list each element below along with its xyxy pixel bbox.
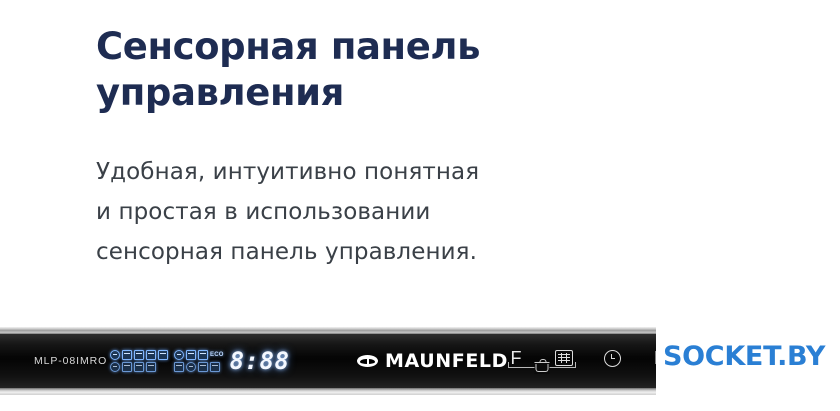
intensive-icon: [186, 362, 196, 372]
appliance-control-panel: MLP-08IMRO: [0, 327, 656, 395]
panel-bottom-edge: [0, 388, 656, 395]
snowflake-icon: [110, 362, 120, 372]
pot-icon: [158, 350, 168, 360]
indicator-row: [174, 362, 224, 372]
led-display: ECO 8:88: [106, 346, 293, 376]
page-root: Сенсорная панель управления Удобная, инт…: [0, 0, 840, 411]
glass-icon: [174, 362, 184, 372]
brand-logo: MAUNFELD: [357, 350, 508, 372]
control-bracket: [508, 361, 576, 375]
panel-top-edge: [0, 327, 656, 334]
rinse-icon: [210, 362, 220, 372]
indicator-row: [110, 362, 168, 372]
program-button-label: P: [654, 349, 656, 367]
brand-name-label: MAUNFELD: [385, 350, 508, 372]
timer-button[interactable]: [602, 343, 622, 379]
tray-icon: [146, 350, 156, 360]
clock-timer-icon: [604, 350, 621, 367]
led-time-readout: 8:88: [230, 349, 290, 373]
cooking-pot-icon: [535, 361, 550, 374]
program-button[interactable]: P: [650, 343, 656, 379]
flower-icon: [186, 350, 196, 360]
fish-icon: [122, 350, 132, 360]
leaf-icon: [134, 362, 144, 372]
indicator-row: ECO: [174, 350, 224, 360]
eco-indicator-label: ECO: [210, 351, 224, 359]
indicator-group-left: [110, 350, 168, 372]
site-watermark: SOCKET.BY: [663, 341, 825, 372]
timer-icon: [174, 350, 184, 360]
indicator-row: [110, 350, 168, 360]
dish-icon: [146, 362, 156, 372]
maunfeld-oval-icon: [357, 355, 378, 367]
pan-icon: [134, 350, 144, 360]
page-title: Сенсорная панель управления: [96, 24, 656, 116]
panel-face: MLP-08IMRO: [0, 334, 656, 388]
wine-glass-icon: [110, 350, 120, 360]
lock-icon: [198, 362, 208, 372]
half-load-icon: [198, 350, 208, 360]
text-block: Сенсорная панель управления Удобная, инт…: [96, 24, 656, 272]
page-description: Удобная, интуитивно понятная и простая в…: [96, 116, 656, 272]
indicator-group-right: ECO: [174, 350, 224, 372]
model-code-label: MLP-08IMRO: [34, 355, 107, 367]
gear-icon: [122, 362, 132, 372]
